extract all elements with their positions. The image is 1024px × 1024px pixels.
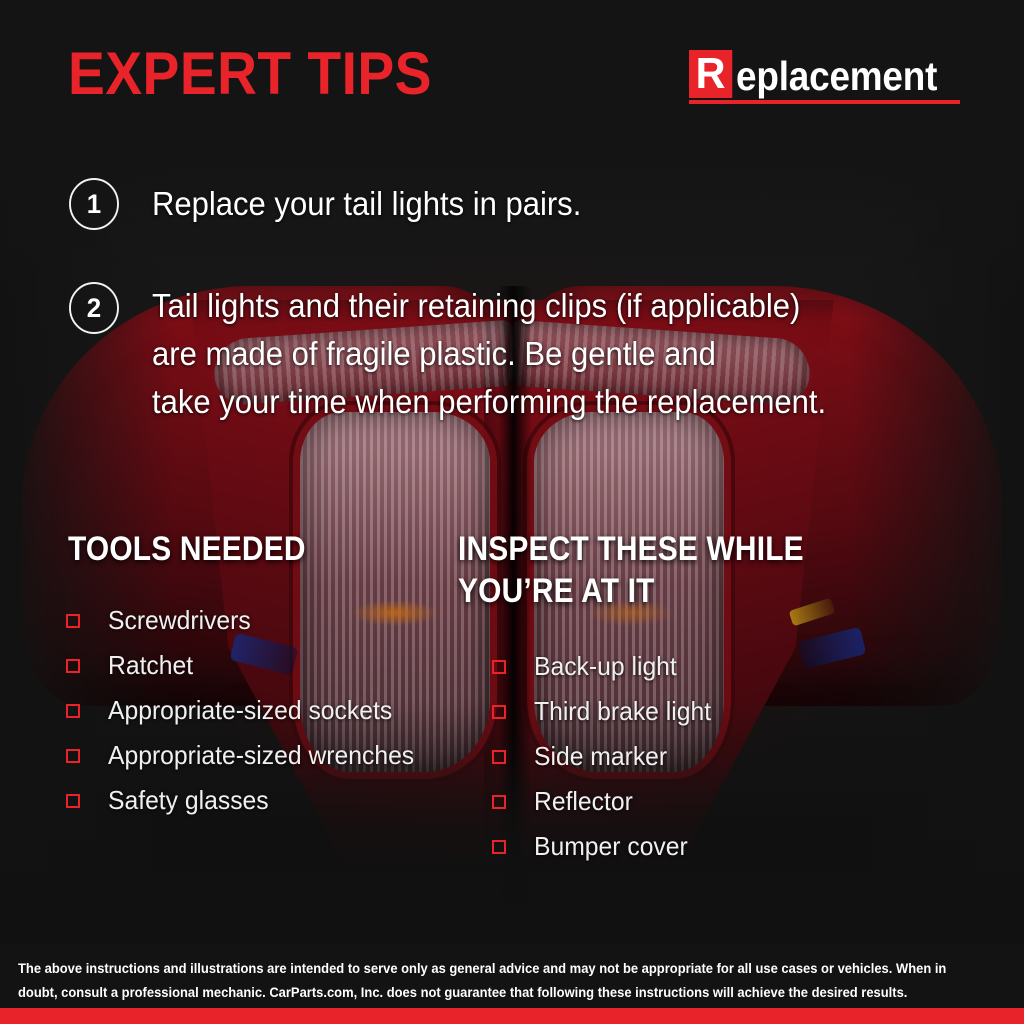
list-item-label: Side marker <box>534 741 667 772</box>
disclaimer-text: The above instructions and illustrations… <box>18 957 968 1005</box>
checkbox-icon <box>66 749 80 763</box>
list-item-label: Bumper cover <box>534 831 688 862</box>
content-layer: EXPERT TIPS R eplacement 1 Replace your … <box>0 0 1024 1024</box>
tip-number-badge-2: 2 <box>69 282 119 334</box>
bottom-accent-bar <box>0 1008 1024 1024</box>
checkbox-icon <box>492 750 506 764</box>
list-item-label: Ratchet <box>108 650 193 681</box>
list-item: Bumper cover <box>492 824 720 869</box>
checkbox-icon <box>492 660 506 674</box>
checkbox-icon <box>492 705 506 719</box>
list-item: Ratchet <box>66 643 430 688</box>
tip-item-2: 2 Tail lights and their retaining clips … <box>68 282 869 426</box>
list-item: Back-up light <box>492 644 720 689</box>
inspect-these-heading: INSPECT THESE WHILE YOU’RE AT IT <box>458 528 804 612</box>
tip-item-1: 1 Replace your tail lights in pairs. <box>68 178 609 230</box>
list-item-label: Third brake light <box>534 696 711 727</box>
logo-initial-badge: R <box>689 50 732 98</box>
list-item-label: Screwdrivers <box>108 605 251 636</box>
logo-wordmark-text: eplacement <box>736 56 937 98</box>
checkbox-icon <box>492 840 506 854</box>
list-item-label: Reflector <box>534 786 633 817</box>
tip-text-2: Tail lights and their retaining clips (i… <box>152 282 826 426</box>
list-item: Reflector <box>492 779 720 824</box>
tools-needed-list: Screwdrivers Ratchet Appropriate-sized s… <box>66 598 430 823</box>
list-item: Side marker <box>492 734 720 779</box>
list-item-label: Safety glasses <box>108 785 269 816</box>
expert-tips-infographic: EXPERT TIPS R eplacement 1 Replace your … <box>0 0 1024 1024</box>
list-item: Appropriate-sized sockets <box>66 688 430 733</box>
list-item-label: Appropriate-sized sockets <box>108 695 392 726</box>
checkbox-icon <box>66 614 80 628</box>
tip-text-1: Replace your tail lights in pairs. <box>152 178 581 230</box>
checkbox-icon <box>66 704 80 718</box>
list-item: Safety glasses <box>66 778 430 823</box>
checkbox-icon <box>66 794 80 808</box>
footer-disclaimer-bar: The above instructions and illustrations… <box>0 945 1024 1008</box>
tools-needed-heading: TOOLS NEEDED <box>68 528 306 570</box>
inspect-these-list: Back-up light Third brake light Side mar… <box>492 644 720 869</box>
list-item-label: Back-up light <box>534 651 677 682</box>
list-item-label: Appropriate-sized wrenches <box>108 740 414 771</box>
list-item: Appropriate-sized wrenches <box>66 733 430 778</box>
logo-wordmark: R eplacement <box>689 50 960 98</box>
tip-number-badge-1: 1 <box>69 178 119 230</box>
page-title: EXPERT TIPS <box>68 44 432 104</box>
list-item: Third brake light <box>492 689 720 734</box>
checkbox-icon <box>66 659 80 673</box>
list-item: Screwdrivers <box>66 598 430 643</box>
checkbox-icon <box>492 795 506 809</box>
logo-underline-rule <box>689 100 960 104</box>
replacement-logo: R eplacement <box>689 50 960 104</box>
